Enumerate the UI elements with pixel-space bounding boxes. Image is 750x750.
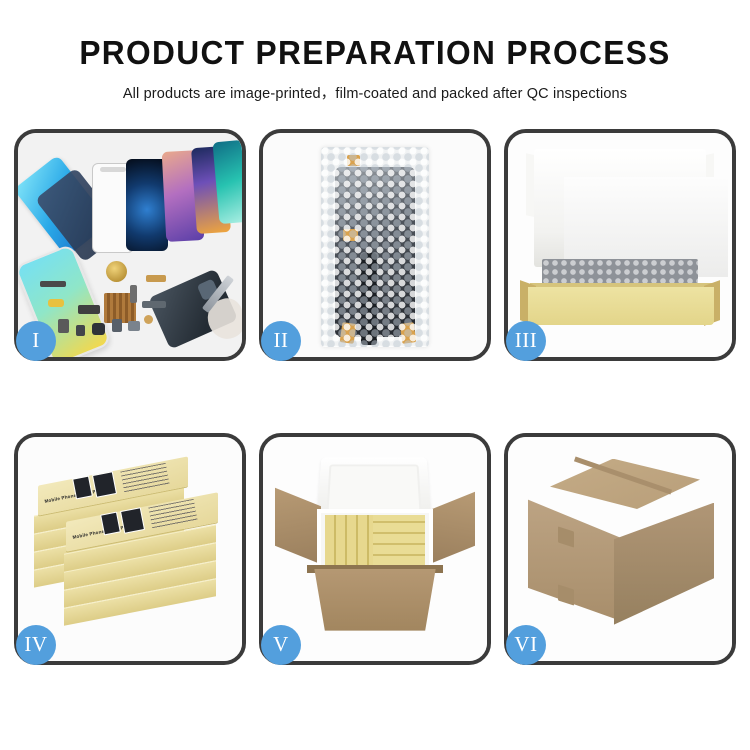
small-part-icon (76, 325, 85, 336)
step-numeral-badge-2: II (261, 321, 301, 361)
process-step-4[interactable]: Mobile Phone Spare Parts Mobile Phone Sp… (14, 433, 246, 665)
process-step-3[interactable]: III (504, 129, 736, 361)
carton-right-face-icon (614, 503, 714, 625)
button-part-icon (112, 319, 122, 332)
page-subtitle: All products are image-printed，film-coat… (0, 82, 750, 103)
process-step-1[interactable]: I (14, 129, 246, 361)
yellow-box-front-icon (528, 287, 714, 325)
sealed-carton-icon (528, 459, 716, 639)
step-5-photo (263, 437, 487, 661)
step-4-photo: Mobile Phone Spare Parts Mobile Phone Sp… (18, 437, 242, 661)
bracket-part-icon (128, 321, 140, 331)
carton-front-icon (309, 569, 441, 631)
step-numeral-badge-4: IV (16, 625, 56, 665)
carton-left-flap-icon (275, 487, 321, 564)
step-numeral-badge-1: I (16, 321, 56, 361)
box-label-screen-image (120, 507, 145, 534)
step-numeral-badge-6: VI (506, 625, 546, 665)
bubble-highlight-icon (321, 147, 429, 347)
bubble-wrap-bag-icon (321, 147, 429, 347)
process-steps-grid: I II (12, 129, 738, 665)
step-3-photo (508, 133, 732, 357)
carton-right-flap-icon (429, 491, 475, 564)
camera-module-icon (130, 285, 137, 303)
taptic-engine-icon (92, 323, 105, 335)
carton-left-face-icon (528, 495, 620, 621)
product-preparation-process-page: PRODUCT PREPARATION PROCESS All products… (0, 0, 750, 750)
step-numeral-badge-5: V (261, 625, 301, 665)
gold-connector-icon (146, 275, 166, 282)
screw-icon (144, 315, 153, 324)
ribbon-cable-icon (78, 305, 100, 314)
step-2-photo (263, 133, 487, 357)
sim-tray-icon (58, 319, 69, 333)
step-6-photo (508, 437, 732, 661)
box-stack-icon: Mobile Phone Spare Parts Mobile Phone Sp… (30, 463, 230, 643)
process-step-6[interactable]: VI (504, 433, 736, 665)
long-flex-icon (142, 301, 166, 308)
process-step-2[interactable]: II (259, 129, 491, 361)
process-step-5[interactable]: V (259, 433, 491, 665)
step-1-photo (18, 133, 242, 357)
box-label-screen-image (92, 471, 117, 498)
step-numeral-badge-3: III (506, 321, 546, 361)
page-title: PRODUCT PREPARATION PROCESS (15, 36, 735, 71)
white-foam-lid-icon (534, 149, 706, 267)
speaker-module-icon (106, 261, 127, 282)
dark-screen-phone-icon (126, 159, 168, 251)
header: PRODUCT PREPARATION PROCESS All products… (0, 0, 750, 103)
battery-icon (48, 299, 64, 307)
flex-cable-icon (40, 281, 66, 287)
packed-yellow-boxes-row-icon (373, 515, 425, 565)
